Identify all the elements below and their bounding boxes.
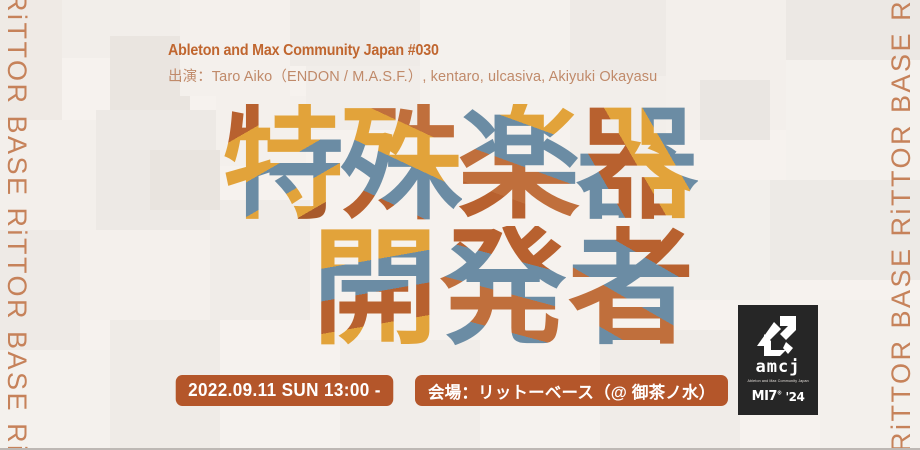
amcj-mark-icon [750,314,806,358]
amcj-tagline: Ableton and Max Community Japan [747,379,808,383]
title-line-2: 開 発 者 [312,226,696,352]
bg-block [80,230,210,320]
performers-line: 出演：Taro Aiko（ENDON / M.A.S.F.）, kentaro,… [168,65,657,86]
venue-badge: 会場：リットーベース（@ 御茶ノ水） [415,375,728,406]
rail-left-text: RiTTOR BASE RiTTOR BASE RiTTOR BASE [1,0,32,450]
title-char: 者 [568,226,694,352]
title-char: 発 [440,226,566,352]
amcj-wordmark: amcj [756,359,801,376]
header: Ableton and Max Community Japan #030 出演：… [168,42,657,86]
info-pills: 2022.09.11 SUN 13:00 - 会場：リットーベース（@ 御茶ノ水… [170,375,728,406]
bg-block [700,80,770,140]
mi7-logo: MI7® [752,390,782,403]
partner-badge: MI7® '24 [752,390,805,403]
date-badge: 2022.09.11 SUN 13:00 - [176,375,393,406]
mi7-text: MI7 [752,389,777,404]
event-poster: RiTTOR BASE RiTTOR BASE RiTTOR BASE RiTT… [0,0,920,450]
event-series-title: Ableton and Max Community Japan #030 [168,42,618,60]
rail-left: RiTTOR BASE RiTTOR BASE RiTTOR BASE [0,0,42,450]
rail-right-text: RiTTOR BASE RiTTOR BASE RiTTOR BASE [886,0,917,450]
title-char: 楽 [458,104,580,226]
title-char: 器 [576,104,698,226]
title-line-1: 特 殊 楽 器 [222,104,694,226]
registered-icon: ® [777,391,782,397]
title-char: 開 [312,226,438,352]
amcj-logo-panel: amcj Ableton and Max Community Japan MI7… [738,305,818,415]
year-badge: '24 [785,391,804,403]
title-char: 殊 [340,104,462,226]
bg-block [150,150,220,210]
title-char: 特 [222,104,344,226]
rail-right: RiTTOR BASE RiTTOR BASE RiTTOR BASE [878,0,920,450]
